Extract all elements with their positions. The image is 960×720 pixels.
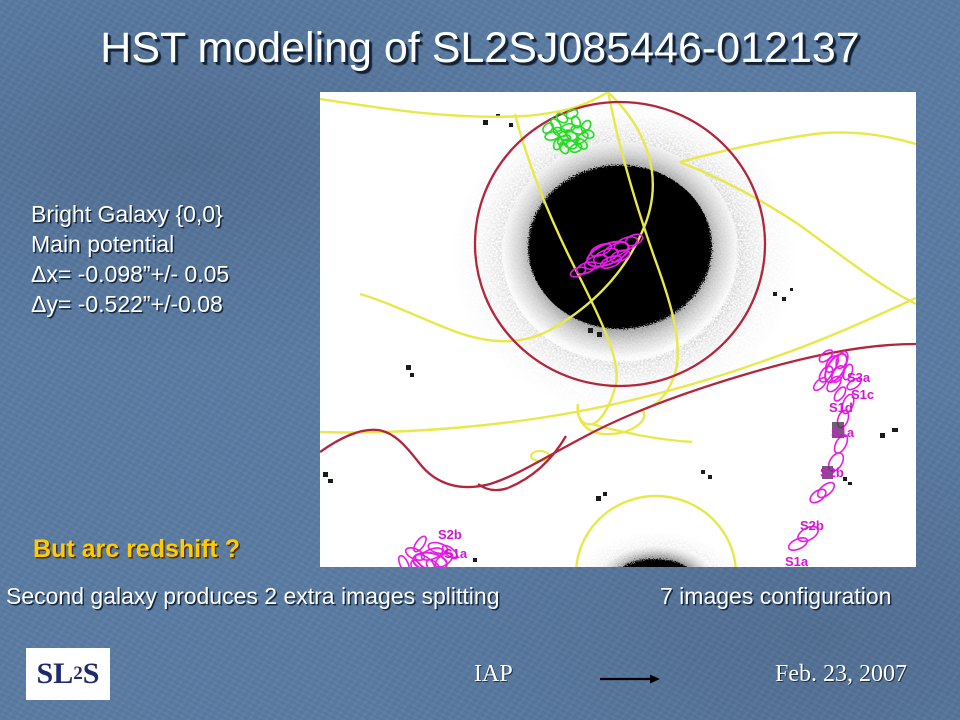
footer-date: Feb. 23, 2007 (775, 661, 907, 688)
info-line-1: Bright Galaxy {0,0} (31, 200, 331, 230)
sl2s-logo: SL2S (26, 648, 110, 700)
info-line-2: Main potential (31, 230, 331, 260)
arc-redshift-question: But arc redshift ? (33, 535, 240, 564)
info-line-3: Δx= -0.098”+/- 0.05 (31, 260, 331, 290)
arrow-right-icon (600, 672, 660, 686)
hst-lens-model-figure: S3a S1c S1d S1a S2b S2b S1a S1b S1b S2a … (320, 92, 916, 567)
caption-images-configuration: 7 images configuration (660, 583, 891, 610)
bright-galaxy-info: Bright Galaxy {0,0} Main potential Δx= -… (31, 200, 331, 320)
label-s1a-upper: S1a (831, 425, 855, 440)
label-s2b-mid: S2b (800, 518, 824, 533)
slide-root: HST modeling of SL2SJ085446-012137 Brigh… (0, 0, 960, 720)
label-s1c: S1c (851, 387, 874, 402)
label-s3a: S3a (847, 370, 871, 385)
page-title: HST modeling of SL2SJ085446-012137 (0, 24, 960, 73)
label-s1a-left: S1a (444, 546, 468, 561)
logo-text-tail: S (83, 657, 100, 691)
logo-text-main: SL (37, 657, 74, 691)
label-s2b-left: S2b (438, 527, 462, 542)
label-s1a-mid: S1a (785, 554, 809, 567)
label-s2b-upper: S2b (820, 465, 844, 480)
figure-svg: S3a S1c S1d S1a S2b S2b S1a S1b S1b S2a … (320, 92, 916, 567)
caption-second-galaxy: Second galaxy produces 2 extra images sp… (6, 583, 500, 610)
footer-venue: IAP (474, 661, 513, 688)
info-line-4: Δy= -0.522”+/-0.08 (31, 290, 331, 320)
label-s1d: S1d (829, 400, 853, 415)
